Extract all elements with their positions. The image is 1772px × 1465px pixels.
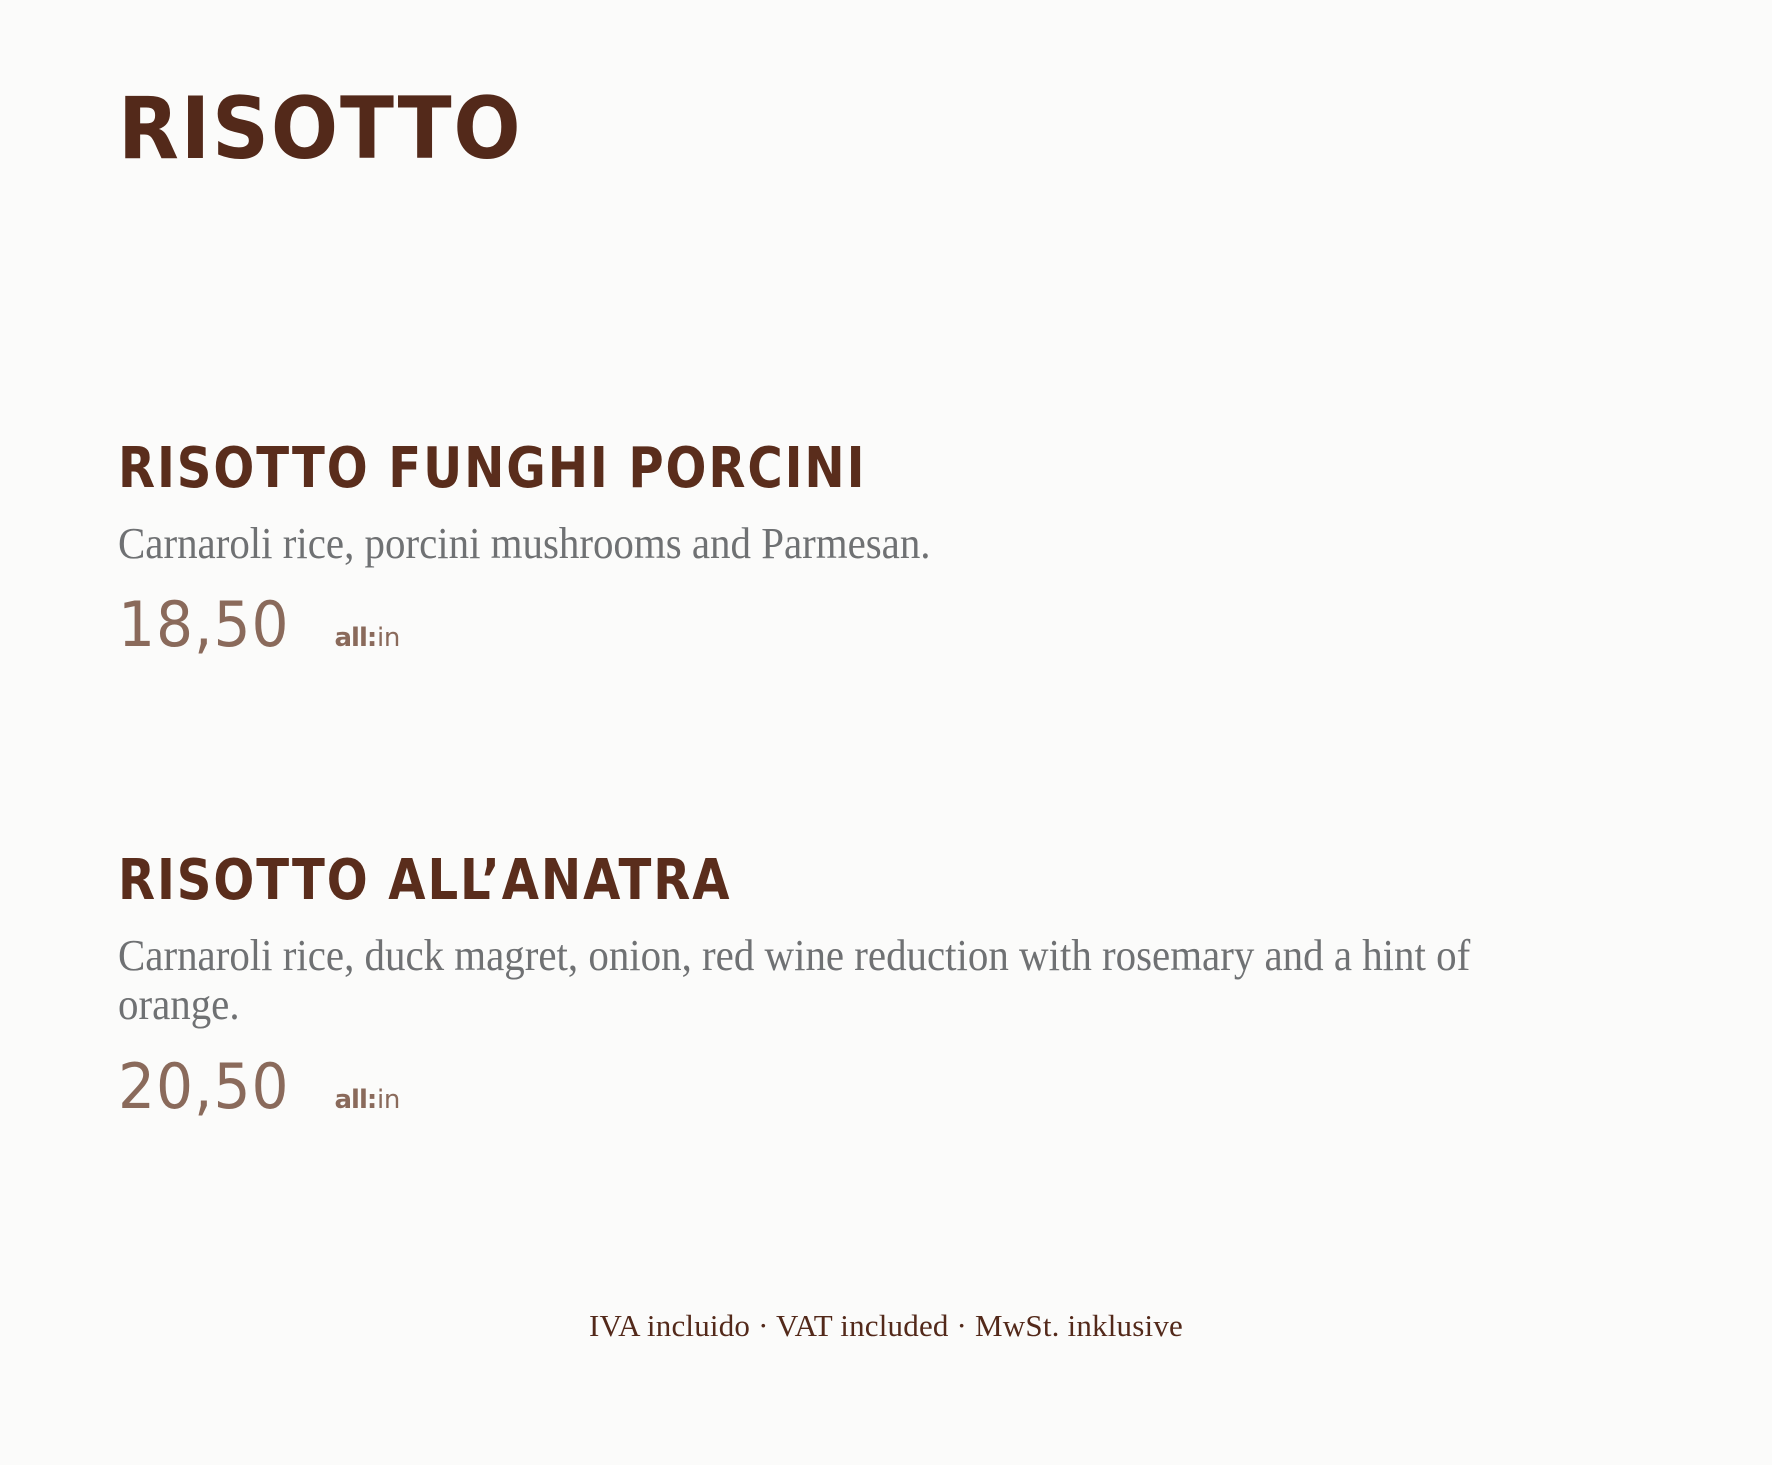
all-in-in-text: in (377, 623, 400, 653)
dish-name: RISOTTO ALL’ANATRA (118, 852, 1460, 909)
price-value: 18,50 (118, 594, 290, 656)
all-in-all-text: all (335, 1085, 367, 1115)
all-in-in-text: in (377, 1085, 400, 1115)
price-row: 20,50 all:in (118, 1056, 1678, 1118)
dish-description: Carnaroli rice, duck magret, onion, red … (118, 931, 1569, 1030)
all-in-separator: : (367, 623, 377, 653)
dish-name: RISOTTO FUNGHI PORCINI (118, 440, 1460, 497)
all-in-separator: : (367, 1085, 377, 1115)
price-row: 18,50 all:in (118, 594, 1678, 656)
menu-item: RISOTTO ALL’ANATRA Carnaroli rice, duck … (118, 852, 1678, 1118)
dish-description: Carnaroli rice, porcini mushrooms and Pa… (118, 519, 1569, 568)
tax-note: IVA incluido · VAT included · MwSt. inkl… (0, 1307, 1772, 1344)
menu-page: RISOTTO RISOTTO FUNGHI PORCINI Carnaroli… (0, 0, 1772, 1465)
all-in-badge: all:in (335, 625, 401, 651)
section-title: RISOTTO (118, 86, 523, 172)
all-in-badge: all:in (335, 1087, 401, 1113)
menu-item: RISOTTO FUNGHI PORCINI Carnaroli rice, p… (118, 440, 1678, 656)
all-in-all-text: all (335, 623, 367, 653)
price-value: 20,50 (118, 1056, 290, 1118)
